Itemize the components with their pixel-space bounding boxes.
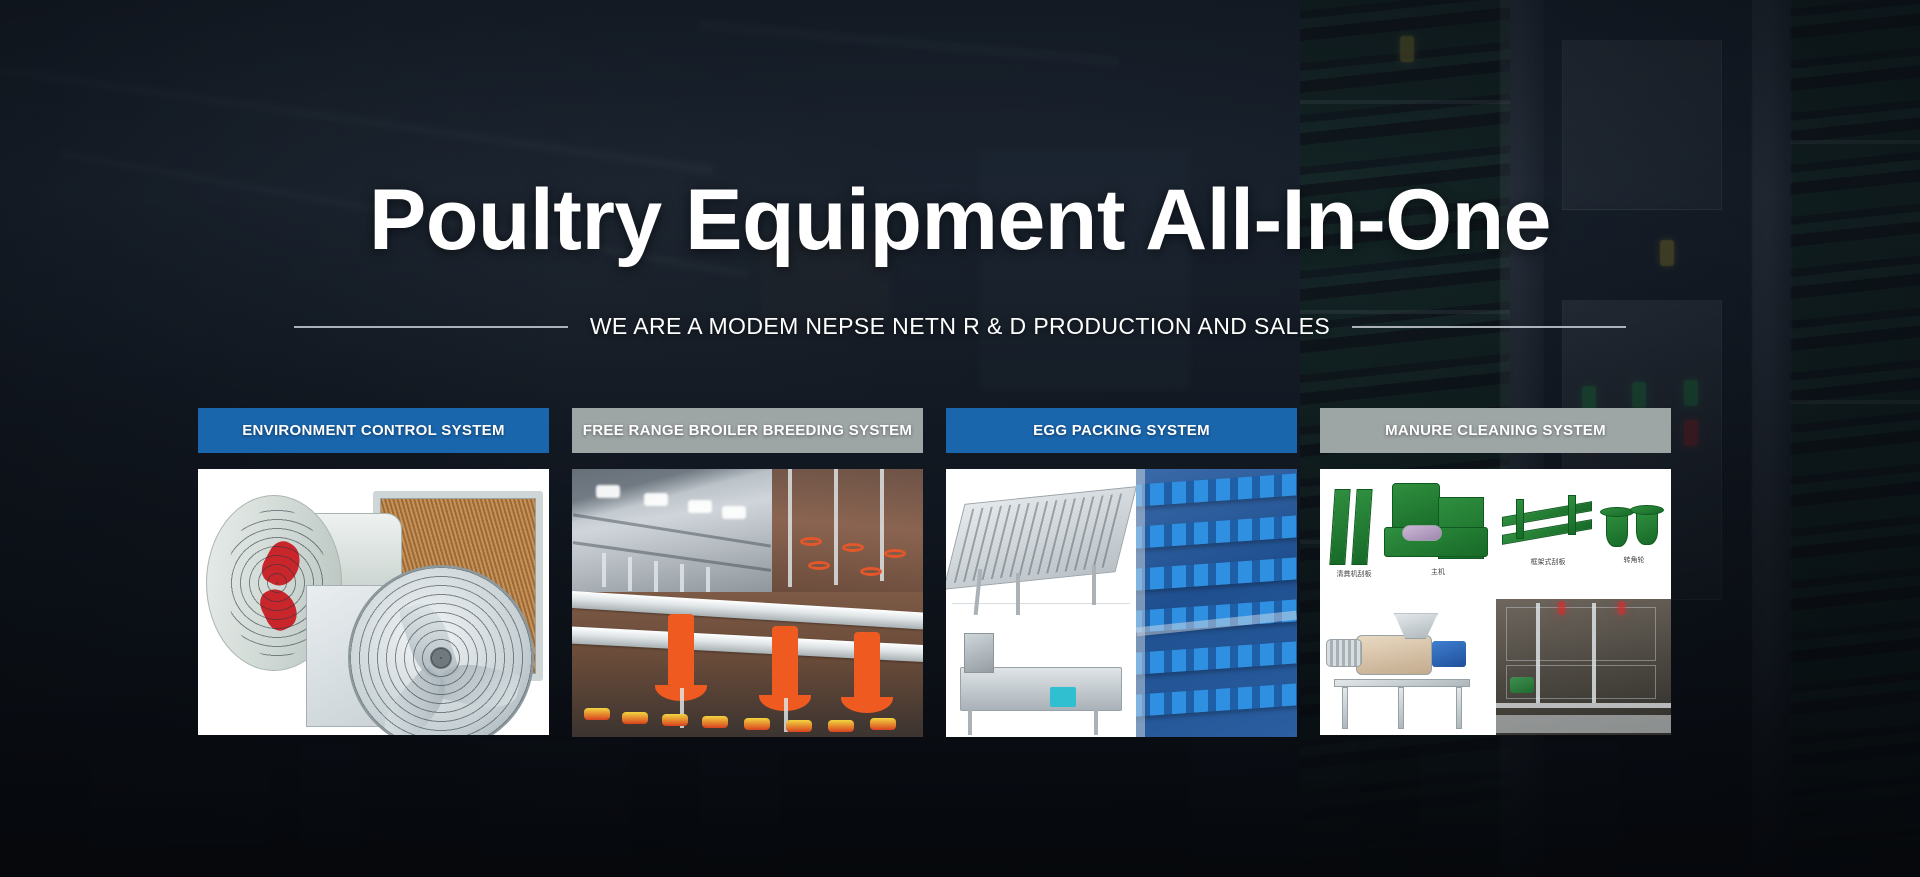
corner-wheel-part: [1636, 511, 1658, 545]
page-title: Poultry Equipment All-In-One: [0, 176, 1920, 265]
card-title-egg-packing[interactable]: EGG PACKING SYSTEM: [946, 408, 1297, 453]
subtitle-rule-left: [294, 326, 568, 328]
card-image-free-range-broiler: [572, 469, 923, 737]
system-card-egg-packing[interactable]: EGG PACKING SYSTEM: [946, 408, 1297, 737]
system-card-list: ENVIRONMENT CONTROL SYSTEM: [198, 408, 1671, 737]
system-card-free-range-broiler[interactable]: FREE RANGE BROILER BREEDING SYSTEM: [572, 408, 923, 737]
corner-wheel-part: [1630, 505, 1664, 515]
dewatering-drum: [1356, 635, 1432, 675]
system-card-environment-control[interactable]: ENVIRONMENT CONTROL SYSTEM: [198, 408, 549, 737]
part-label-cn-1: 清粪机刮板: [1326, 569, 1382, 579]
manure-parts-photo: 清粪机刮板 主机 框架式刮板 转角轮: [1320, 469, 1671, 599]
belt-drive-motor: [1510, 677, 1534, 693]
feeder-drop: [854, 632, 880, 704]
card-title-manure-cleaning[interactable]: MANURE CLEANING SYSTEM: [1320, 408, 1671, 453]
card-image-manure-cleaning: 清粪机刮板 主机 框架式刮板 转角轮: [1320, 469, 1671, 735]
machine-base-frame: [1334, 679, 1470, 687]
fan-grill: [350, 567, 532, 735]
corner-wheel-part: [1606, 513, 1628, 547]
feeder-drop: [772, 626, 798, 702]
egg-washer-image: [960, 667, 1122, 711]
broiler-house-photo-top-left: [572, 469, 772, 595]
machine-leg: [1342, 687, 1348, 729]
egg-tray-rack-photo: [1136, 469, 1297, 737]
corner-wheel-part: [1600, 507, 1634, 517]
card-title-environment-control[interactable]: ENVIRONMENT CONTROL SYSTEM: [198, 408, 549, 453]
egg-washer-motor: [964, 633, 994, 673]
manure-belt-photo: [1496, 599, 1672, 735]
card-image-egg-packing: [946, 469, 1297, 737]
part-label-cn-3: 框架式刮板: [1516, 557, 1580, 567]
system-card-manure-cleaning[interactable]: MANURE CLEANING SYSTEM 清粪机刮板 主机 框架式刮板: [1320, 408, 1671, 737]
machine-leg: [1398, 687, 1404, 729]
machine-leg: [1456, 687, 1462, 729]
frame-scraper-part: [1516, 499, 1524, 539]
subtitle-row: WE ARE A MODEM NEPSE NETN R & D PRODUCTI…: [0, 313, 1920, 340]
frame-scraper-part: [1568, 495, 1576, 535]
card-title-free-range-broiler[interactable]: FREE RANGE BROILER BREEDING SYSTEM: [572, 408, 923, 453]
broiler-house-photo-top-right: [772, 469, 923, 595]
feed-pipe: [572, 591, 923, 631]
dewatering-screw: [1326, 639, 1362, 667]
card-image-environment-control: [198, 469, 549, 735]
egg-grader-image: [946, 486, 1137, 590]
egg-machine-photos: [946, 469, 1136, 737]
feeder-drop: [668, 614, 694, 692]
scraper-blade-part: [1351, 489, 1372, 565]
broiler-house-photo-bottom: [572, 592, 923, 737]
part-label-cn-4: 转角轮: [1610, 555, 1658, 565]
subtitle-rule-right: [1352, 326, 1626, 328]
dewatering-motor: [1432, 641, 1466, 667]
machine-roller: [1402, 525, 1442, 541]
scraper-blade-part: [1329, 489, 1350, 565]
egg-washer-tank: [1050, 687, 1076, 707]
part-label-cn-2: 主机: [1414, 567, 1462, 577]
page-subtitle: WE ARE A MODEM NEPSE NETN R & D PRODUCTI…: [590, 313, 1330, 340]
dewatering-machine-photo: [1320, 599, 1496, 735]
